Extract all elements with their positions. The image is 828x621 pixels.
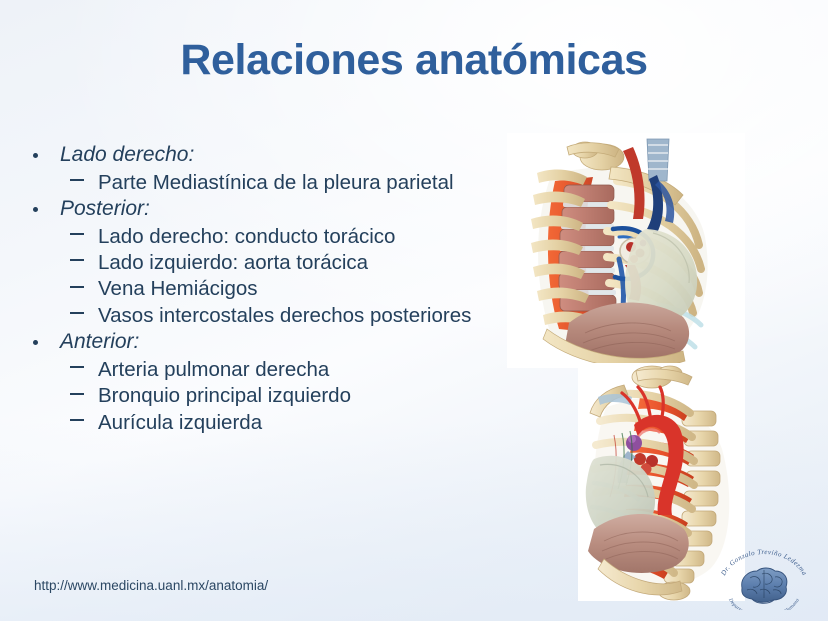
bullet-item-level2: Lado izquierdo: aorta torácica	[22, 250, 492, 275]
slide-canvas: Relaciones anatómicas Lado derecho:Parte…	[0, 0, 828, 621]
bullet-item-level1: Lado derecho:	[22, 142, 492, 168]
bullet-text: Lado izquierdo: aorta torácica	[98, 251, 368, 274]
bullet-dash-icon	[70, 419, 84, 421]
bullet-item-level2: Parte Mediastínica de la pleura parietal	[22, 170, 492, 195]
bullet-text: Lado derecho: conducto torácico	[98, 225, 395, 248]
source-url: http://www.medicina.uanl.mx/anatomia/	[34, 578, 268, 593]
bullet-disc-icon	[33, 340, 38, 345]
bullet-text: Lado derecho:	[60, 143, 194, 166]
bullet-list: Lado derecho:Parte Mediastínica de la pl…	[22, 142, 492, 436]
bullet-item-level1: Anterior:	[22, 329, 492, 355]
bullet-text: Bronquio principal izquierdo	[98, 384, 351, 407]
bullet-text: Anterior:	[60, 330, 139, 353]
bullet-item-level2: Vasos intercostales derechos posteriores	[22, 303, 492, 328]
page-title: Relaciones anatómicas	[0, 36, 828, 85]
bullet-dash-icon	[70, 179, 84, 181]
bullet-dash-icon	[70, 393, 84, 395]
bullet-item-level2: Lado derecho: conducto torácico	[22, 224, 492, 249]
bullet-dash-icon	[70, 366, 84, 368]
bullet-text: Vena Hemiácigos	[98, 277, 258, 300]
bullet-text: Vasos intercostales derechos posteriores	[98, 304, 471, 327]
bullet-dash-icon	[70, 312, 84, 314]
bullet-item-level2: Aurícula izquierda	[22, 410, 492, 435]
bullet-item-level2: Bronquio principal izquierdo	[22, 383, 492, 408]
bullet-dash-icon	[70, 259, 84, 261]
bullet-dash-icon	[70, 286, 84, 288]
thorax-right-mediastinum-illustration	[507, 133, 745, 368]
bullet-text: Parte Mediastínica de la pleura parietal	[98, 171, 454, 194]
bullet-item-level1: Posterior:	[22, 196, 492, 222]
anatomy-department-logo: Dr. Gonzalo Treviño Ledezma Departa	[712, 548, 816, 610]
bullet-item-level2: Arteria pulmonar derecha	[22, 357, 492, 382]
bullet-item-level2: Vena Hemiácigos	[22, 276, 492, 301]
bullet-text: Arteria pulmonar derecha	[98, 358, 329, 381]
bullet-dash-icon	[70, 233, 84, 235]
bullet-disc-icon	[33, 207, 38, 212]
bullet-text: Aurícula izquierda	[98, 411, 262, 434]
bullet-text: Posterior:	[60, 197, 150, 220]
bullet-disc-icon	[33, 153, 38, 158]
